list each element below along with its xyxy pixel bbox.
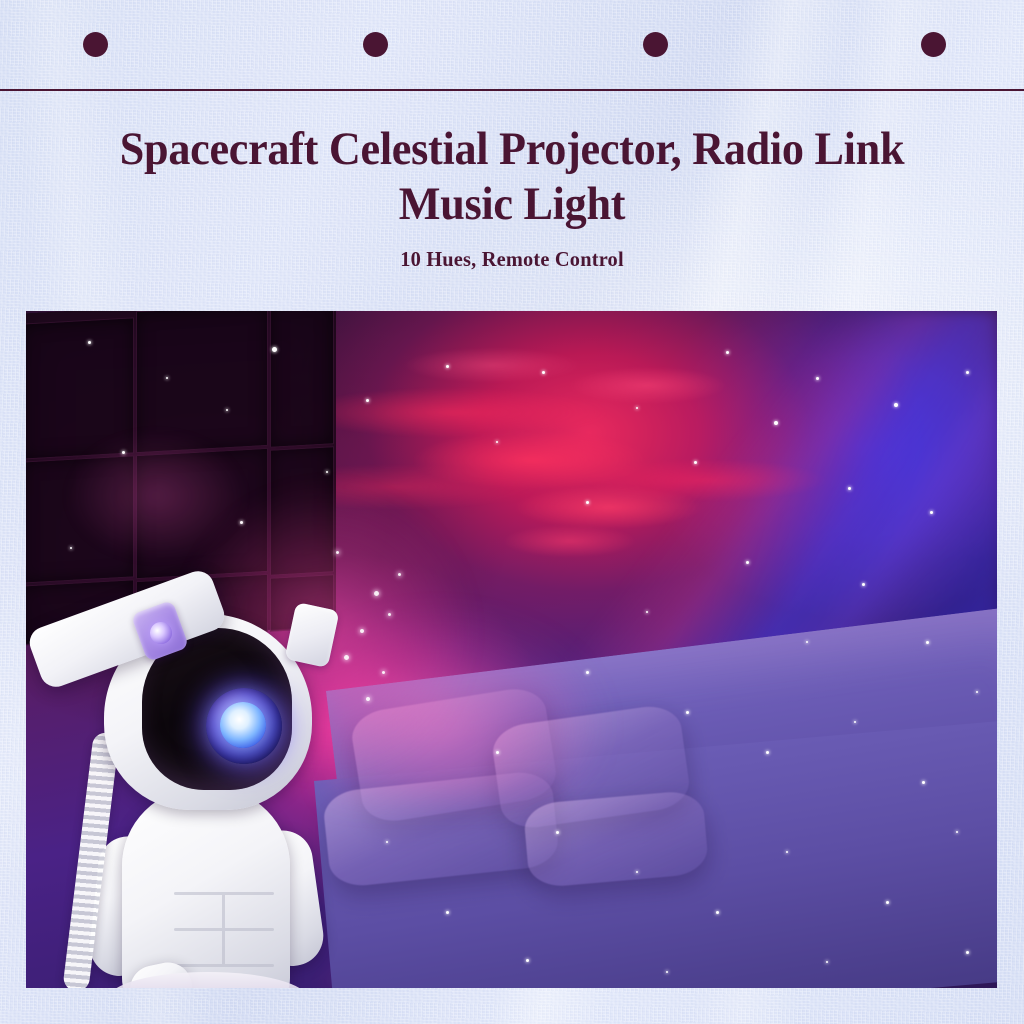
projector-lens-core [220, 702, 266, 748]
product-photo [26, 311, 997, 988]
sparkle [366, 697, 370, 701]
header-dot-1 [83, 32, 108, 57]
shelf-glow [66, 431, 246, 561]
header-dot-3 [643, 32, 668, 57]
sparkle [374, 591, 379, 596]
header-dot-4 [921, 32, 946, 57]
page-subtitle: 10 Hues, Remote Control [15, 247, 1008, 272]
page-title: Spacecraft Celestial Projector, Radio Li… [31, 122, 994, 231]
header-dot-2 [363, 32, 388, 57]
header-dot-row [0, 0, 1024, 90]
sparkle [388, 613, 391, 616]
sparkle [360, 629, 364, 633]
title-block: Spacecraft Celestial Projector, Radio Li… [0, 122, 1024, 272]
right-side-panel [284, 602, 339, 668]
sparkle [336, 551, 339, 554]
product-banner-page: Spacecraft Celestial Projector, Radio Li… [0, 0, 1024, 1024]
sparkle [398, 573, 401, 576]
sparkle [344, 655, 349, 660]
header-divider [0, 89, 1024, 91]
astronaut-projector [34, 592, 364, 988]
pillow-small [523, 789, 710, 888]
sparkle [382, 671, 385, 674]
bed-glow [326, 611, 606, 801]
